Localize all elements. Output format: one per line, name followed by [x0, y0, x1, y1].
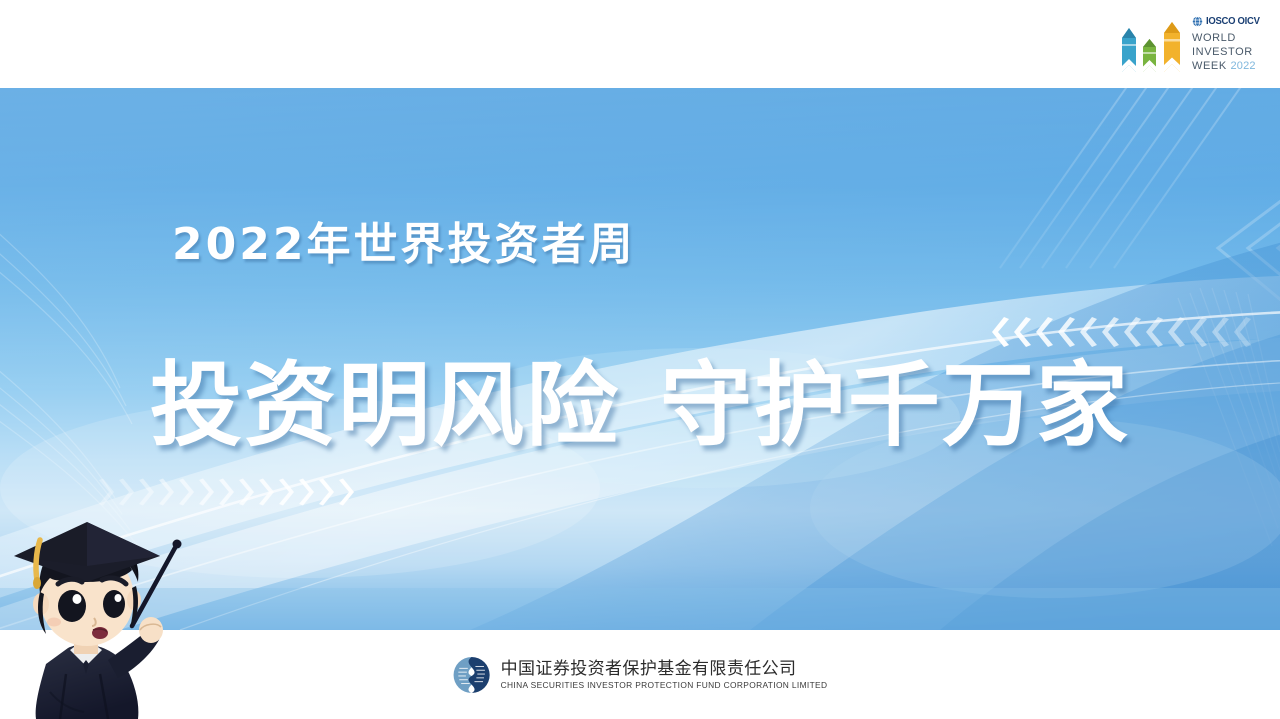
wiw-week-label: WEEK [1192, 60, 1227, 72]
iosco-abbrev-label: IOSCO OICV [1206, 17, 1260, 27]
poster-stage: IOSCO OICV WORLD INVESTOR WEEK 2022 [0, 0, 1280, 719]
wiw-line-investor: INVESTOR [1192, 45, 1264, 59]
three-pencils-icon [1110, 20, 1194, 78]
csipf-emblem-icon [453, 656, 491, 694]
main-banner: 2022年世界投资者周 投资明风险守护千万家 [0, 88, 1280, 630]
world-investor-week-logo: IOSCO OICV WORLD INVESTOR WEEK 2022 [1106, 6, 1266, 84]
wiw-year-label: 2022 [1230, 60, 1255, 72]
wiw-line-world: WORLD [1192, 31, 1264, 45]
globe-icon [1192, 16, 1203, 27]
csipf-logo: 中国证券投资者保护基金有限责任公司 CHINA SECURITIES INVES… [453, 656, 828, 694]
wiw-text-block: IOSCO OICV WORLD INVESTOR WEEK 2022 [1192, 16, 1264, 73]
iosco-badge: IOSCO OICV [1192, 16, 1264, 27]
banner-background-art [0, 88, 1280, 630]
csipf-name-cn: 中国证券投资者保护基金有限责任公司 [501, 660, 828, 679]
wiw-line-week-year: WEEK 2022 [1192, 59, 1264, 73]
top-bar: IOSCO OICV WORLD INVESTOR WEEK 2022 [0, 0, 1280, 88]
csipf-names: 中国证券投资者保护基金有限责任公司 CHINA SECURITIES INVES… [501, 660, 828, 690]
csipf-name-en: CHINA SECURITIES INVESTOR PROTECTION FUN… [501, 681, 828, 690]
footer-bar: 中国证券投资者保护基金有限责任公司 CHINA SECURITIES INVES… [0, 630, 1280, 719]
